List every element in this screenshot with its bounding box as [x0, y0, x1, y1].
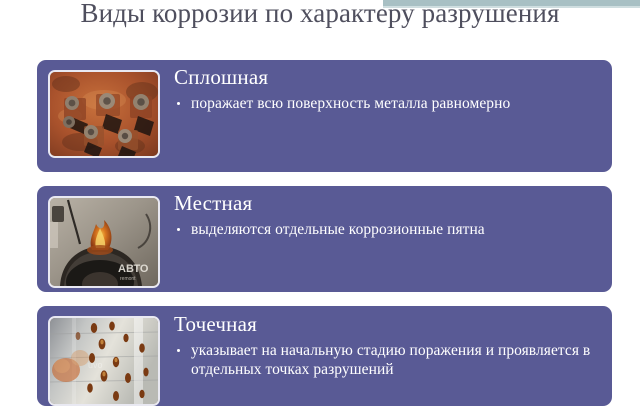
box-inner: uvo Точечная указывает на начальную стад…: [37, 306, 612, 406]
bullet-item: указывает на начальную стадию поражения …: [174, 341, 598, 379]
bullet-list: указывает на начальную стадию поражения …: [174, 341, 598, 379]
box-inner: Сплошная поражает всю поверхность металл…: [37, 60, 612, 172]
bullet-item: поражает всю поверхность металла равноме…: [174, 94, 598, 113]
content-box-mestnaya: АВТО remont Местная выделяются отдельные…: [37, 186, 612, 292]
bullet-list: поражает всю поверхность металла равноме…: [174, 94, 598, 113]
box-text-column: Точечная указывает на начальную стадию п…: [160, 306, 612, 379]
box-heading: Сплошная: [174, 64, 598, 90]
pitting-corrosion-illustration: uvo: [50, 318, 158, 404]
content-box-tochechnaya: uvo Точечная указывает на начальную стад…: [37, 306, 612, 406]
svg-text:uvo: uvo: [88, 360, 103, 370]
bullet-item: выделяются отдельные коррозионные пятна: [174, 220, 598, 239]
box-heading: Точечная: [174, 311, 598, 337]
box-text-column: Сплошная поражает всю поверхность металл…: [160, 60, 612, 113]
rusted-bolts-plate-photo: [48, 70, 160, 158]
rusted-car-fender-photo: АВТО remont: [48, 196, 160, 288]
bullet-list: выделяются отдельные коррозионные пятна: [174, 220, 598, 239]
car-fender-rust-illustration: АВТО remont: [50, 198, 158, 286]
box-text-column: Местная выделяются отдельные коррозионны…: [160, 186, 612, 239]
rusted-bolts-illustration: [50, 72, 158, 156]
box-heading: Местная: [174, 190, 598, 216]
svg-text:remont: remont: [120, 276, 136, 282]
box-inner: АВТО remont Местная выделяются отдельные…: [37, 186, 612, 292]
pitting-corrosion-metal-photo: uvo: [48, 316, 160, 406]
slide-title: Виды коррозии по характеру разрушения: [0, 0, 640, 29]
content-box-sploshnaya: Сплошная поражает всю поверхность металл…: [37, 60, 612, 172]
svg-text:АВТО: АВТО: [118, 263, 149, 275]
